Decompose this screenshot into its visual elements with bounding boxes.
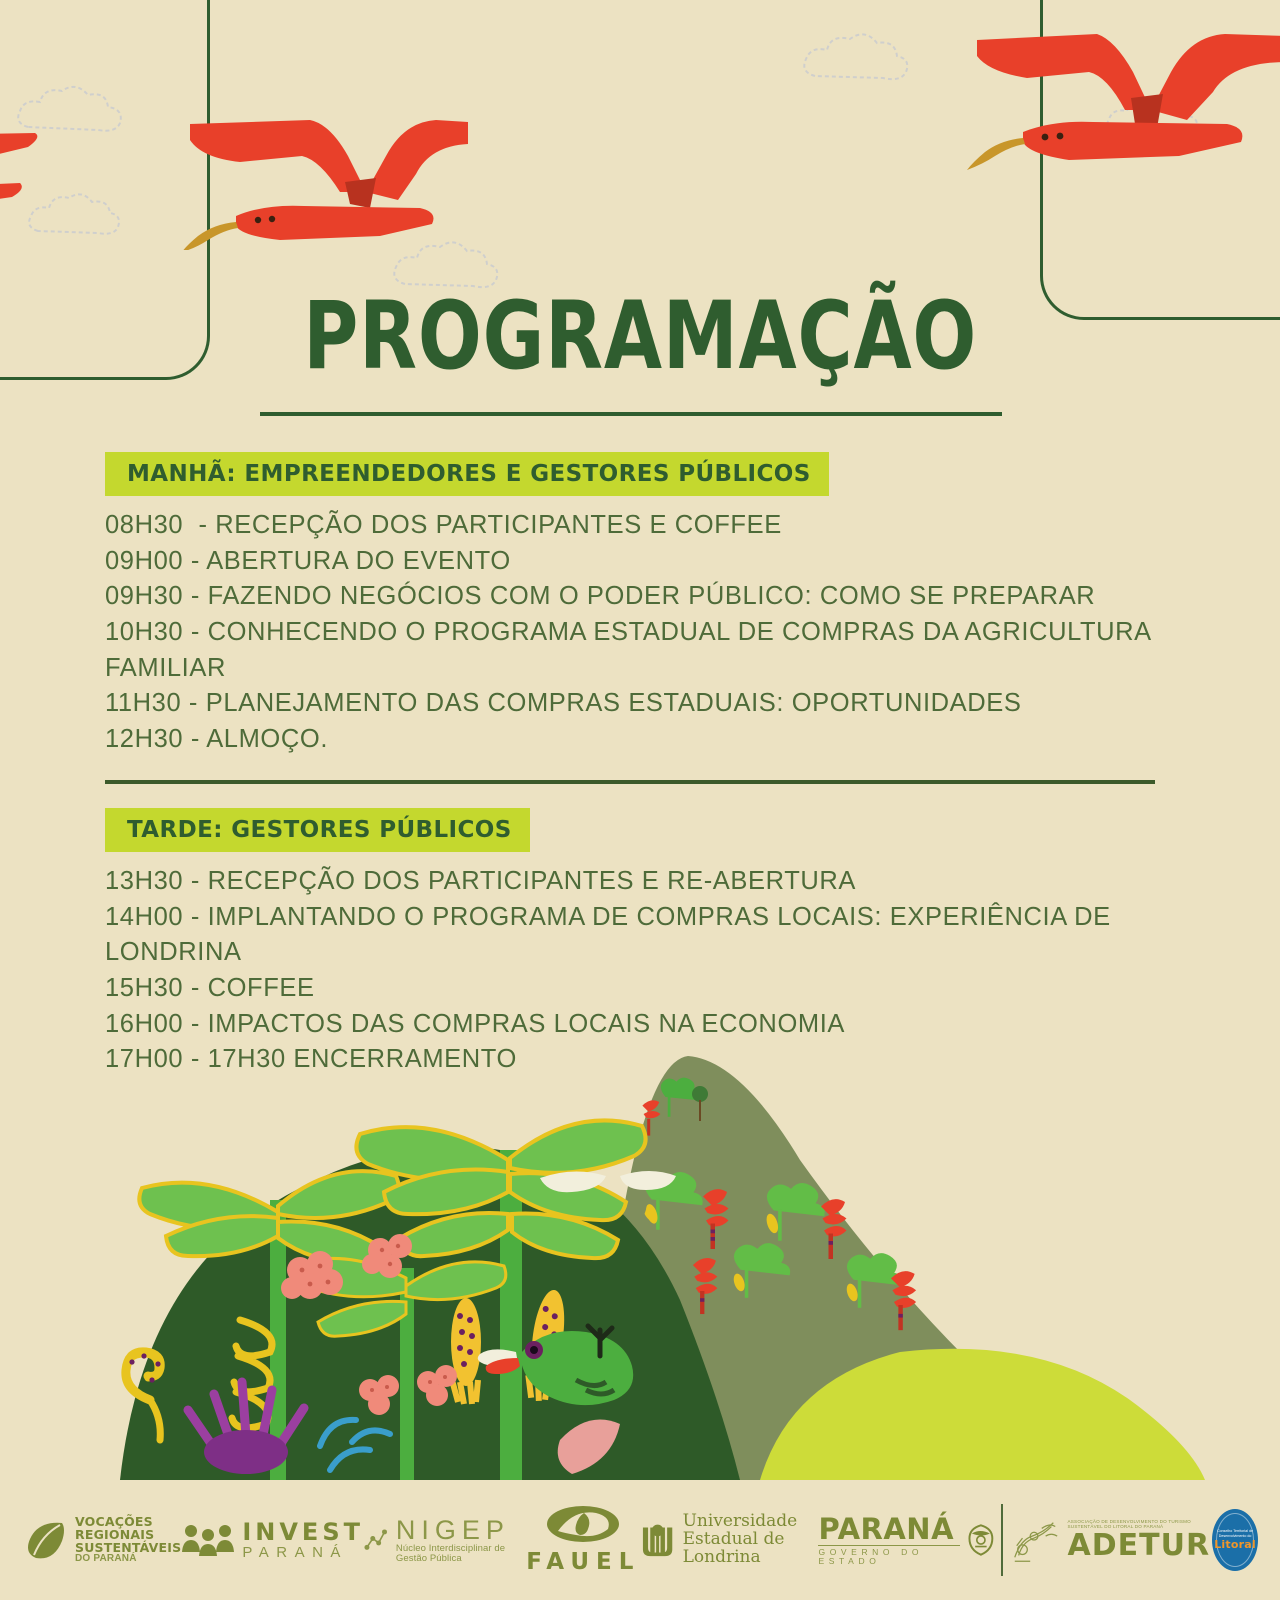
invest-line2: PARANÁ: [242, 1545, 364, 1561]
nigep-line2: Núcleo Interdisciplinar de Gestão Públic…: [396, 1544, 526, 1564]
parana-line2: GOVERNO DO ESTADO: [818, 1545, 960, 1566]
litoral-tagline: Conselho Territorial de Desenvolvimento …: [1212, 1529, 1258, 1538]
bird-icon-main-left: [180, 100, 470, 250]
logo-uel: Universidade Estadual de Londrina: [640, 1513, 818, 1566]
bird-icon-left: [0, 95, 130, 215]
nigep-line1: NIGEP: [396, 1516, 526, 1544]
adetur-sketch-icon: [1009, 1516, 1061, 1564]
section-header-afternoon: TARDE: GESTORES PÚBLICOS: [105, 808, 530, 852]
schedule-item: 14H00 - IMPLANTANDO O PROGRAMA DE COMPRA…: [105, 900, 1165, 971]
people-icon: [181, 1522, 235, 1558]
logo-litoral-badge: Conselho Territorial de Desenvolvimento …: [1212, 1509, 1258, 1571]
parana-line1: PARANÁ: [818, 1514, 960, 1544]
page-title-wrap: PROGRAMAÇÃO: [0, 292, 1280, 382]
tropical-landscape-illustration: [0, 1000, 1280, 1480]
section-header-morning: MANHÃ: EMPREENDEDORES E GESTORES PÚBLICO…: [105, 452, 829, 496]
page-title: PROGRAMAÇÃO: [303, 292, 977, 382]
schedule-item: 12H30 - ALMOÇO.: [105, 722, 1165, 758]
invest-line1: INVEST: [242, 1520, 364, 1545]
adetur-name: ADETUR: [1068, 1530, 1213, 1561]
parana-coat-of-arms-icon: [967, 1520, 995, 1560]
schedule-item: 13H30 - RECEPÇÃO DOS PARTICIPANTES E RE-…: [105, 864, 1165, 900]
footer-logos: VOCAÇÕES REGIONAIS SUSTENTÁVEIS DO PARAN…: [0, 1480, 1280, 1600]
logo-adetur: ASSOCIAÇÃO DE DESENVOLVIMENTO DO TURISMO…: [1009, 1516, 1213, 1564]
uel-line2: Estadual de Londrina: [683, 1531, 819, 1566]
logo-parana-governo: PARANÁ GOVERNO DO ESTADO: [818, 1514, 995, 1566]
schedule-item: 11H30 - PLANEJAMENTO DAS COMPRAS ESTADUA…: [105, 686, 1165, 722]
litoral-name: Litoral: [1214, 1538, 1256, 1551]
network-icon: [364, 1524, 389, 1556]
fauel-name: FAUEL: [526, 1551, 640, 1575]
cloud-icon-4: [795, 22, 925, 92]
schedule-item: 09H00 - ABERTURA DO EVENTO: [105, 544, 1165, 580]
schedule-section-morning: MANHÃ: EMPREENDEDORES E GESTORES PÚBLICO…: [105, 452, 1165, 758]
bird-icon-right: [965, 18, 1280, 178]
section-divider: [105, 780, 1155, 784]
schedule-item: 08H30 - RECEPÇÃO DOS PARTICIPANTES E COF…: [105, 508, 1165, 544]
logo-fauel: FAUEL: [526, 1505, 640, 1576]
logo-nigep: NIGEP Núcleo Interdisciplinar de Gestão …: [364, 1516, 526, 1564]
uel-tree-icon: [640, 1517, 675, 1563]
vocacoes-line4: DO PARANÁ: [75, 1554, 181, 1564]
fauel-oval-icon: [546, 1505, 620, 1547]
logo-vocacoes-regionais: VOCAÇÕES REGIONAIS SUSTENTÁVEIS DO PARAN…: [22, 1515, 181, 1564]
schedule-item: 09H30 - FAZENDO NEGÓCIOS COM O PODER PÚB…: [105, 579, 1165, 615]
schedule-items-morning: 08H30 - RECEPÇÃO DOS PARTICIPANTES E COF…: [105, 508, 1165, 758]
schedule-item: 10H30 - CONHECENDO O PROGRAMA ESTADUAL D…: [105, 615, 1165, 686]
leaf-icon: [22, 1517, 68, 1563]
title-underline: [260, 412, 1002, 416]
logo-invest-parana: INVEST PARANÁ: [181, 1520, 364, 1561]
footer-divider: [1001, 1504, 1002, 1576]
schedule: MANHÃ: EMPREENDEDORES E GESTORES PÚBLICO…: [105, 452, 1165, 1078]
